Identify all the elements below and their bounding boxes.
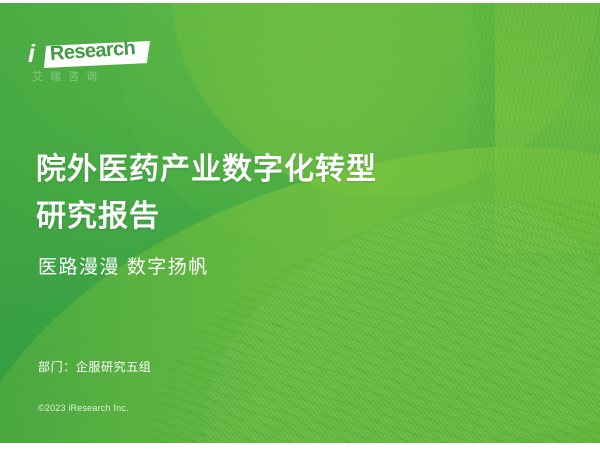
copyright-notice: ©2023 iResearch Inc. [38,402,129,415]
page-title: 院外医药产业数字化转型 研究报告 [36,146,556,240]
iresearch-logo: i Research 艾瑞咨询 [28,41,148,87]
department-label: 部门：企服研究五组 [38,359,151,376]
page-title-line-2: 研究报告 [36,193,556,240]
report-cover-slide: i Research 艾瑞咨询 院外医药产业数字化转型 研究报告 医路漫漫 数字… [0,3,600,443]
logo-chinese-name: 艾瑞咨询 [32,70,104,84]
page-subtitle: 医路漫漫 数字扬帆 [38,255,209,281]
page-title-line-1: 院外医药产业数字化转型 [36,146,556,193]
logo-i-mark: i [28,42,34,67]
